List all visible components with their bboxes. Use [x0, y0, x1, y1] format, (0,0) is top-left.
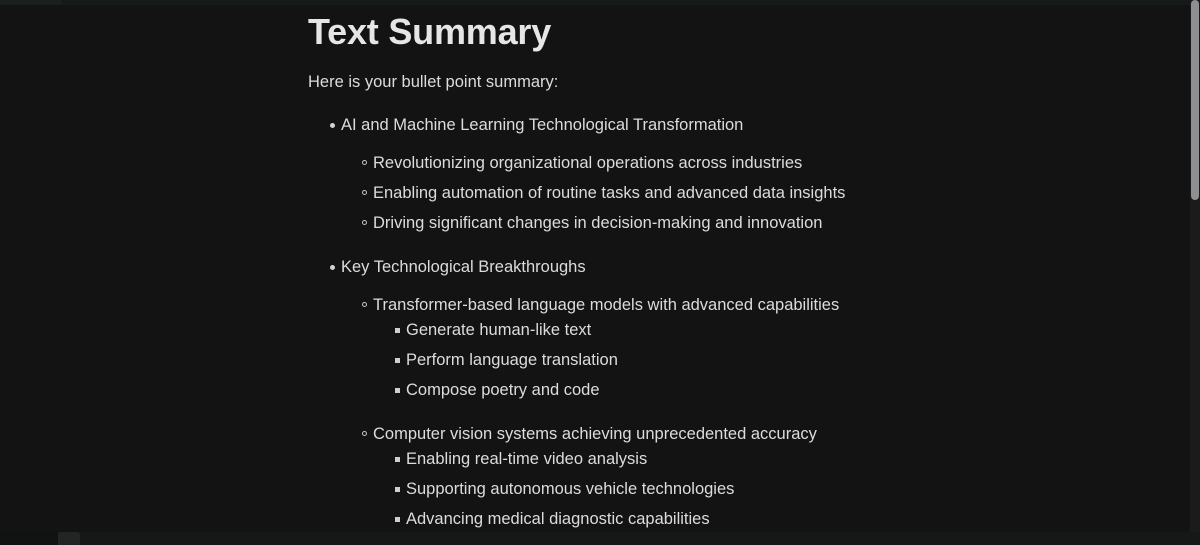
square-bullet-icon: [395, 487, 400, 492]
sub-point-text: Driving significant changes in decision-…: [373, 214, 822, 232]
sub-point-text: Enabling automation of routine tasks and…: [373, 184, 845, 202]
vertical-scrollbar-track[interactable]: [1190, 0, 1200, 545]
list-item: Key Technological Breakthroughs Transfor…: [308, 256, 1190, 530]
circle-bullet-icon: [362, 302, 367, 307]
detail-point-text: Advancing medical diagnostic capabilitie…: [406, 510, 710, 528]
summary-bullet-list: AI and Machine Learning Technological Tr…: [308, 114, 1190, 530]
sub-sub-bullet-list: Generate human-like text Perform languag…: [373, 319, 1190, 401]
detail-point-text: Supporting autonomous vehicle technologi…: [406, 480, 734, 498]
intro-paragraph: Here is your bullet point summary:: [308, 71, 1190, 93]
document-viewport: Text Summary Here is your bullet point s…: [0, 0, 1200, 545]
list-item: Advancing medical diagnostic capabilitie…: [373, 508, 1190, 530]
page-title: Text Summary: [308, 9, 1190, 55]
sub-point-text: Computer vision systems achieving unprec…: [373, 425, 817, 443]
square-bullet-icon: [395, 388, 400, 393]
circle-bullet-icon: [362, 160, 367, 165]
list-item: Transformer-based language models with a…: [341, 294, 1190, 401]
sub-bullet-list: Transformer-based language models with a…: [341, 294, 1190, 530]
list-item: Revolutionizing organizational operation…: [341, 152, 1190, 174]
detail-point-text: Enabling real-time video analysis: [406, 450, 647, 468]
circle-bullet-icon: [362, 190, 367, 195]
list-item: Supporting autonomous vehicle technologi…: [373, 478, 1190, 500]
list-item: Driving significant changes in decision-…: [341, 212, 1190, 234]
disc-bullet-icon: [330, 123, 335, 128]
list-item: Compose poetry and code: [373, 379, 1190, 401]
sub-bullet-list: Revolutionizing organizational operation…: [341, 152, 1190, 234]
detail-point-text: Perform language translation: [406, 351, 618, 369]
window-chrome-bottom-strip: [0, 532, 1200, 545]
square-bullet-icon: [395, 517, 400, 522]
disc-bullet-icon: [330, 265, 335, 270]
sub-point-text: Transformer-based language models with a…: [373, 296, 839, 314]
sub-sub-bullet-list: Enabling real-time video analysis Suppor…: [373, 448, 1190, 530]
vertical-scrollbar-thumb[interactable]: [1191, 0, 1199, 200]
list-item: Enabling automation of routine tasks and…: [341, 182, 1190, 204]
list-item: Perform language translation: [373, 349, 1190, 371]
summary-content: Text Summary Here is your bullet point s…: [0, 0, 1190, 545]
square-bullet-icon: [395, 358, 400, 363]
list-item: AI and Machine Learning Technological Tr…: [308, 114, 1190, 234]
circle-bullet-icon: [362, 220, 367, 225]
section-heading-text: Key Technological Breakthroughs: [341, 258, 586, 276]
square-bullet-icon: [395, 457, 400, 462]
list-item: Enabling real-time video analysis: [373, 448, 1190, 470]
window-chrome-bottom-notch: [58, 532, 80, 545]
detail-point-text: Generate human-like text: [406, 321, 591, 339]
list-item: Computer vision systems achieving unprec…: [341, 423, 1190, 530]
sub-point-text: Revolutionizing organizational operation…: [373, 154, 802, 172]
square-bullet-icon: [395, 328, 400, 333]
list-item: Generate human-like text: [373, 319, 1190, 341]
circle-bullet-icon: [362, 431, 367, 436]
section-heading-text: AI and Machine Learning Technological Tr…: [341, 116, 743, 134]
detail-point-text: Compose poetry and code: [406, 381, 600, 399]
window-chrome-bottom-left-strip: [0, 532, 58, 545]
